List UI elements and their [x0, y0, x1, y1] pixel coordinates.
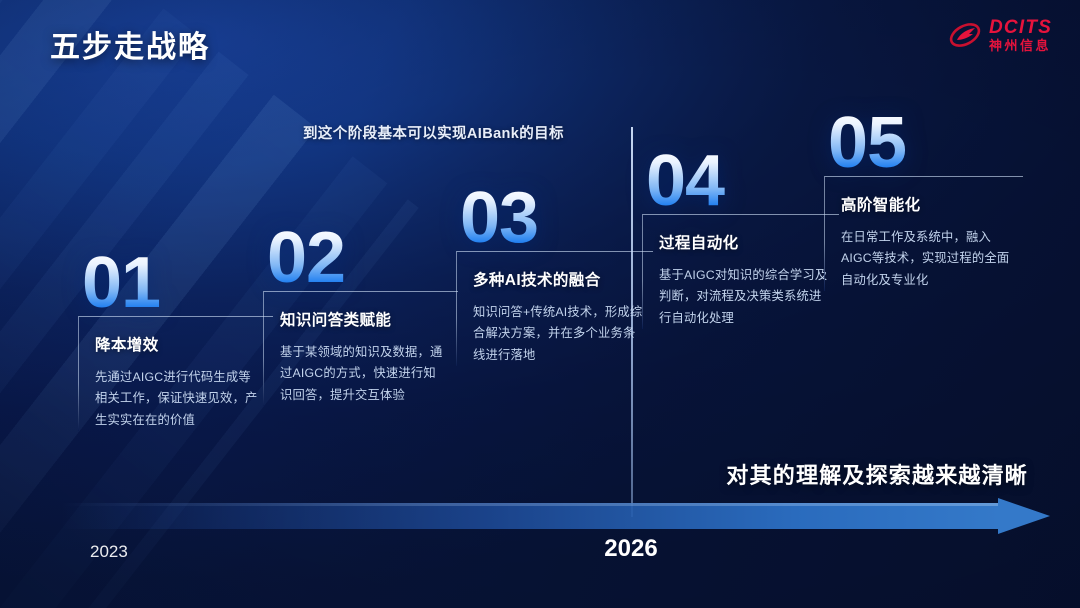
step-card-05: 05 高阶智能化 在日常工作及系统中，融入AIGC等技术，实现过程的全面自动化及…	[824, 110, 1023, 291]
logo-chinese-name: 神州信息	[989, 39, 1052, 52]
timeline-arrow-bar	[62, 503, 1000, 529]
step-content: 降本增效 先通过AIGC进行代码生成等相关工作，保证快速见效，产生实实在在的价值	[78, 316, 273, 430]
step-number: 05	[828, 110, 1023, 176]
step-number: 01	[82, 250, 273, 316]
dcits-swirl-icon	[948, 20, 982, 50]
step-card-03: 03 多种AI技术的融合 知识问答+传统AI技术，形成综合解决方案，并在多个业务…	[456, 185, 653, 366]
step-card-02: 02 知识问答类赋能 基于某领域的知识及数据，通过AIGC的方式，快速进行知识回…	[263, 225, 458, 406]
slide-root: 五步走战略 DCITS 神州信息 到这个阶段基本可以实现AIBank的目标 01…	[0, 0, 1080, 608]
step-content: 高阶智能化 在日常工作及系统中，融入AIGC等技术，实现过程的全面自动化及专业化	[824, 176, 1023, 290]
step-card-01: 01 降本增效 先通过AIGC进行代码生成等相关工作，保证快速见效，产生实实在在…	[78, 250, 273, 431]
step-number: 04	[646, 148, 839, 214]
step-description: 在日常工作及系统中，融入AIGC等技术，实现过程的全面自动化及专业化	[841, 227, 1013, 290]
step-content: 过程自动化 基于AIGC对知识的综合学习及判断，对流程及决策类系统进行自动化处理	[642, 214, 839, 328]
timeline-arrow-highlight	[62, 503, 1000, 506]
timeline-arrow	[62, 498, 1052, 534]
step-content: 知识问答类赋能 基于某领域的知识及数据，通过AIGC的方式，快速进行知识回答，提…	[263, 291, 458, 405]
timeline-end-year: 2026	[604, 535, 657, 563]
page-title: 五步走战略	[50, 22, 210, 66]
logo-text-block: DCITS 神州信息	[989, 18, 1052, 52]
step-content: 多种AI技术的融合 知识问答+传统AI技术，形成综合解决方案，并在多个业务条线进…	[456, 251, 653, 365]
step-title: 知识问答类赋能	[280, 308, 448, 330]
stage-annotation-label: 到这个阶段基本可以实现AIBank的目标	[303, 122, 564, 143]
timeline-start-year: 2023	[90, 542, 128, 562]
logo-english-name: DCITS	[989, 18, 1052, 37]
step-card-04: 04 过程自动化 基于AIGC对知识的综合学习及判断，对流程及决策类系统进行自动…	[642, 148, 839, 329]
step-number: 02	[267, 225, 458, 291]
step-number: 03	[460, 185, 653, 251]
step-description: 基于某领域的知识及数据，通过AIGC的方式，快速进行知识回答，提升交互体验	[280, 342, 448, 405]
step-description: 基于AIGC对知识的综合学习及判断，对流程及决策类系统进行自动化处理	[659, 265, 829, 328]
step-description: 先通过AIGC进行代码生成等相关工作，保证快速见效，产生实实在在的价值	[95, 367, 263, 430]
step-title: 降本增效	[95, 333, 263, 355]
step-title: 过程自动化	[659, 231, 829, 253]
timeline-arrow-head-icon	[998, 498, 1050, 534]
step-title: 多种AI技术的融合	[473, 268, 643, 290]
step-title: 高阶智能化	[841, 193, 1013, 215]
step-description: 知识问答+传统AI技术，形成综合解决方案，并在多个业务条线进行落地	[473, 302, 643, 365]
company-logo: DCITS 神州信息	[948, 18, 1052, 52]
summary-tagline: 对其的理解及探索越来越清晰	[726, 458, 1028, 490]
